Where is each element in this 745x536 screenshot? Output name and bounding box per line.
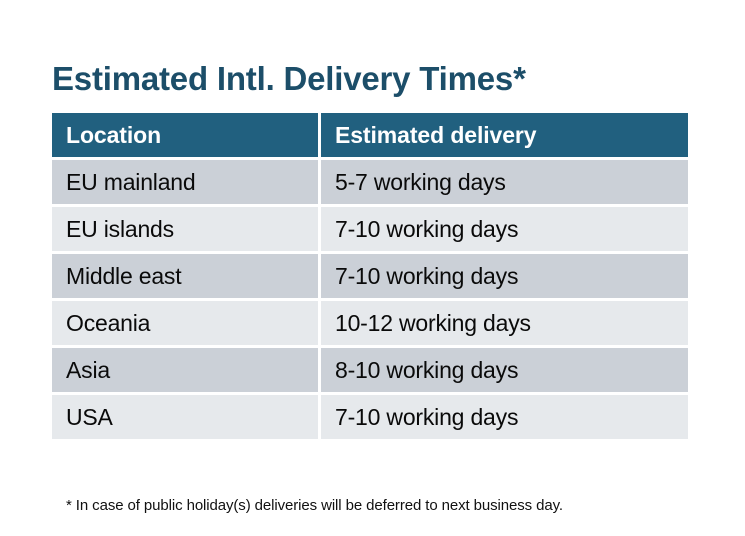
cell-estimated-delivery: 7-10 working days bbox=[321, 254, 688, 298]
cell-location: EU islands bbox=[52, 207, 318, 251]
cell-location: Middle east bbox=[52, 254, 318, 298]
table-row: EU islands 7-10 working days bbox=[52, 207, 688, 251]
cell-estimated-delivery: 5-7 working days bbox=[321, 160, 688, 204]
cell-location: Oceania bbox=[52, 301, 318, 345]
table-body: EU mainland 5-7 working days EU islands … bbox=[52, 160, 688, 439]
table-row: Asia 8-10 working days bbox=[52, 348, 688, 392]
table-header-row: Location Estimated delivery bbox=[52, 113, 688, 157]
table-row: Middle east 7-10 working days bbox=[52, 254, 688, 298]
cell-location: EU mainland bbox=[52, 160, 318, 204]
table-footnote: * In case of public holiday(s) deliverie… bbox=[66, 497, 563, 514]
table-row: EU mainland 5-7 working days bbox=[52, 160, 688, 204]
cell-estimated-delivery: 7-10 working days bbox=[321, 395, 688, 439]
cell-estimated-delivery: 10-12 working days bbox=[321, 301, 688, 345]
delivery-times-document: Estimated Intl. Delivery Times* Location… bbox=[0, 0, 745, 536]
table-row: USA 7-10 working days bbox=[52, 395, 688, 439]
page-title: Estimated Intl. Delivery Times* bbox=[52, 60, 526, 98]
cell-estimated-delivery: 8-10 working days bbox=[321, 348, 688, 392]
cell-location: Asia bbox=[52, 348, 318, 392]
cell-estimated-delivery: 7-10 working days bbox=[321, 207, 688, 251]
estimated-delivery-times-table: Location Estimated delivery EU mainland … bbox=[49, 110, 691, 442]
table-header: Location Estimated delivery bbox=[52, 113, 688, 157]
column-header-location: Location bbox=[52, 113, 318, 157]
table-row: Oceania 10-12 working days bbox=[52, 301, 688, 345]
cell-location: USA bbox=[52, 395, 318, 439]
column-header-estimated-delivery: Estimated delivery bbox=[321, 113, 688, 157]
